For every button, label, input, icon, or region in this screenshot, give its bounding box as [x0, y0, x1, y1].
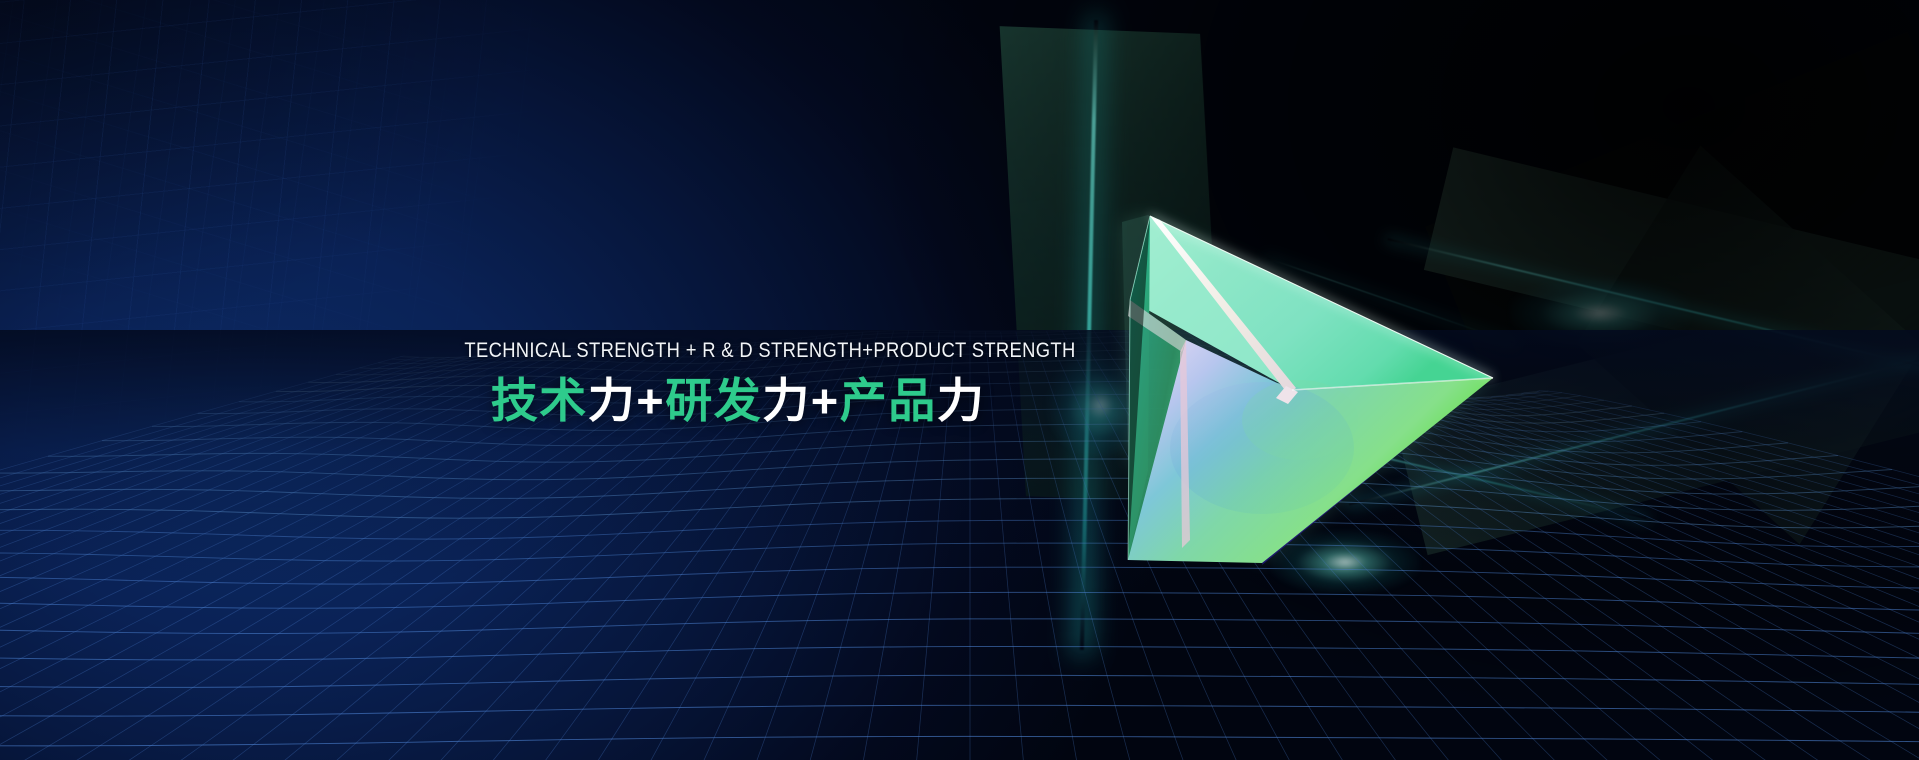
headline-segment-3: 研发: [665, 374, 762, 427]
headline-segment-0: 技术: [491, 374, 588, 427]
hero-banner: TECHNICAL STRENGTH + R & D STRENGTH+PROD…: [0, 0, 1919, 760]
headline-segment-1: 力: [588, 374, 637, 427]
headline-segment-5: +: [811, 374, 840, 427]
hero-copy: TECHNICAL STRENGTH + R & D STRENGTH+PROD…: [418, 340, 1058, 424]
headline-segment-6: 产品: [840, 374, 937, 427]
headline-segment-4: 力: [762, 374, 811, 427]
headline-text: 技术力+研发力+产品力: [418, 377, 1058, 425]
eyebrow-text: TECHNICAL STRENGTH + R & D STRENGTH+PROD…: [464, 340, 1011, 362]
headline-segment-7: 力: [937, 374, 986, 427]
headline-segment-2: +: [636, 374, 665, 427]
